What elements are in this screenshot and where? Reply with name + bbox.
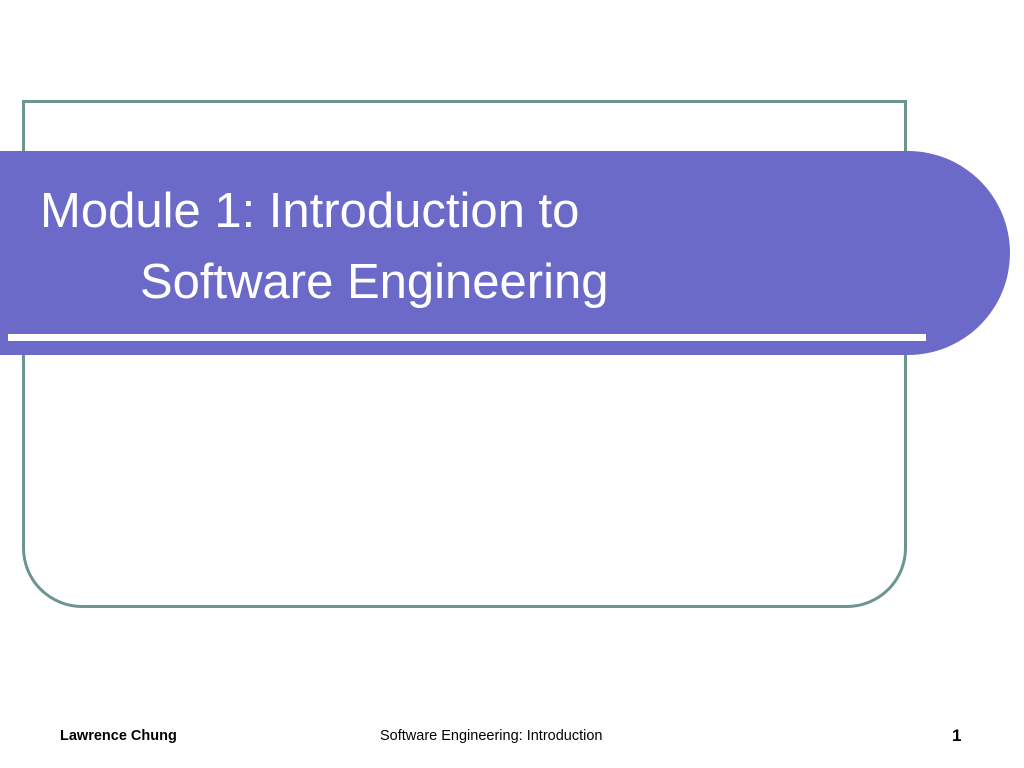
footer-subject: Software Engineering: Introduction (380, 728, 602, 744)
footer-page-number: 1 (952, 726, 961, 746)
title-line-1: Module 1: Introduction to (40, 184, 579, 238)
slide: Module 1: Introduction to Software Engin… (0, 0, 1024, 768)
title-line-2: Software Engineering (40, 247, 940, 318)
page-title: Module 1: Introduction to Software Engin… (40, 176, 940, 318)
footer-author: Lawrence Chung (60, 728, 177, 744)
banner-divider-rule (8, 334, 926, 341)
